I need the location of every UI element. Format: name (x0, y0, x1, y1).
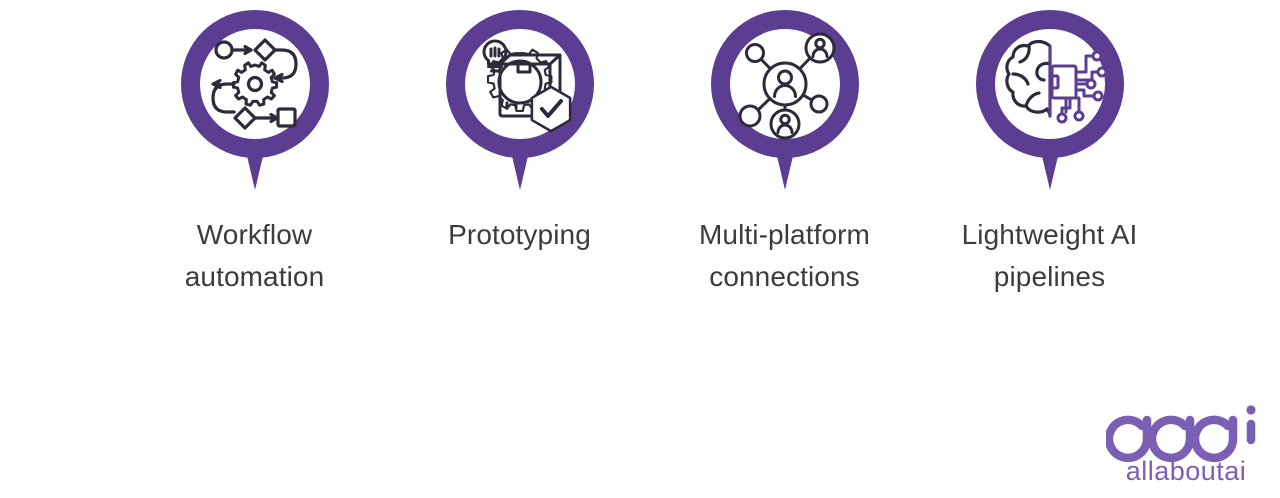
map-pin-workflow-automation (179, 2, 331, 192)
feature-item-lightweight-ai-pipelines[interactable]: Lightweight AI pipelines (917, 0, 1182, 298)
feature-label: Lightweight AI pipelines (962, 214, 1138, 298)
feature-item-prototyping[interactable]: Prototyping (387, 0, 652, 256)
map-pin-prototyping (444, 2, 596, 192)
map-pin-multi-platform-connections (709, 2, 861, 192)
logo-wordmark: allaboutai (1126, 456, 1247, 486)
map-pin-lightweight-ai-pipelines (974, 2, 1126, 192)
allaboutai-logo[interactable]: allaboutai (1106, 384, 1266, 494)
feature-row: Workflow automation (0, 0, 1280, 320)
feature-label: Workflow automation (185, 214, 325, 298)
feature-label: Multi-platform connections (699, 214, 870, 298)
feature-item-workflow-automation[interactable]: Workflow automation (122, 0, 387, 298)
feature-item-multi-platform-connections[interactable]: Multi-platform connections (652, 0, 917, 298)
feature-label: Prototyping (448, 214, 591, 256)
